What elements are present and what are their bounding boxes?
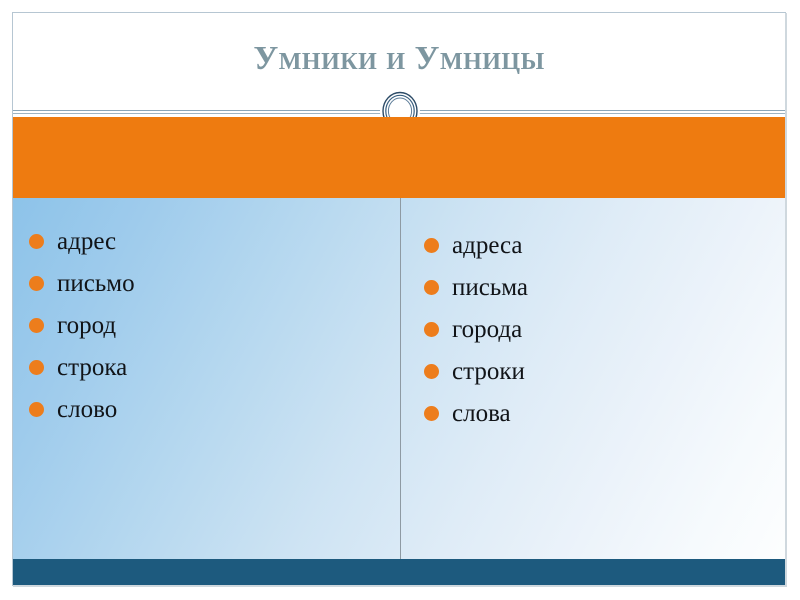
list-item[interactable]: адрес [29,220,400,262]
bullet-dot-icon [424,406,439,421]
list-item[interactable]: слово [29,388,400,430]
bullet-dot-icon [424,238,439,253]
content-area: адрес письмо город строка слово [13,198,785,559]
list-item[interactable]: письма [424,266,785,308]
list-item-label: слово [57,397,117,422]
list-item-label: строка [57,355,127,380]
list-item[interactable]: письмо [29,262,400,304]
bullet-dot-icon [424,322,439,337]
list-item-label: слова [452,401,511,426]
bullet-dot-icon [29,318,44,333]
page-title: Умники и Умницы [253,42,544,82]
list-item-label: письмо [57,271,135,296]
bullet-dot-icon [29,234,44,249]
column-plural-forms: адреса письма города строки слова [401,198,785,559]
bullet-list-singular: адрес письмо город строка слово [13,198,400,430]
bullet-dot-icon [424,280,439,295]
accent-band [13,117,785,198]
list-item[interactable]: слова [424,392,785,434]
column-singular-forms: адрес письмо город строка слово [13,198,400,559]
list-item[interactable]: строки [424,350,785,392]
bullet-dot-icon [424,364,439,379]
list-item[interactable]: строка [29,346,400,388]
list-item-label: адрес [57,229,116,254]
list-item-label: адреса [452,233,523,258]
list-item[interactable]: города [424,308,785,350]
list-item-label: города [452,317,522,342]
presentation-slide: Умники и Умницы адрес письм [0,0,800,600]
list-item-label: письма [452,275,528,300]
bullet-list-plural: адреса письма города строки слова [401,198,785,434]
list-item-label: строки [452,359,525,384]
list-item-label: город [57,313,116,338]
list-item[interactable]: город [29,304,400,346]
footer-band [13,559,785,585]
bullet-dot-icon [29,276,44,291]
bullet-dot-icon [29,402,44,417]
bullet-dot-icon [29,360,44,375]
list-item[interactable]: адреса [424,224,785,266]
